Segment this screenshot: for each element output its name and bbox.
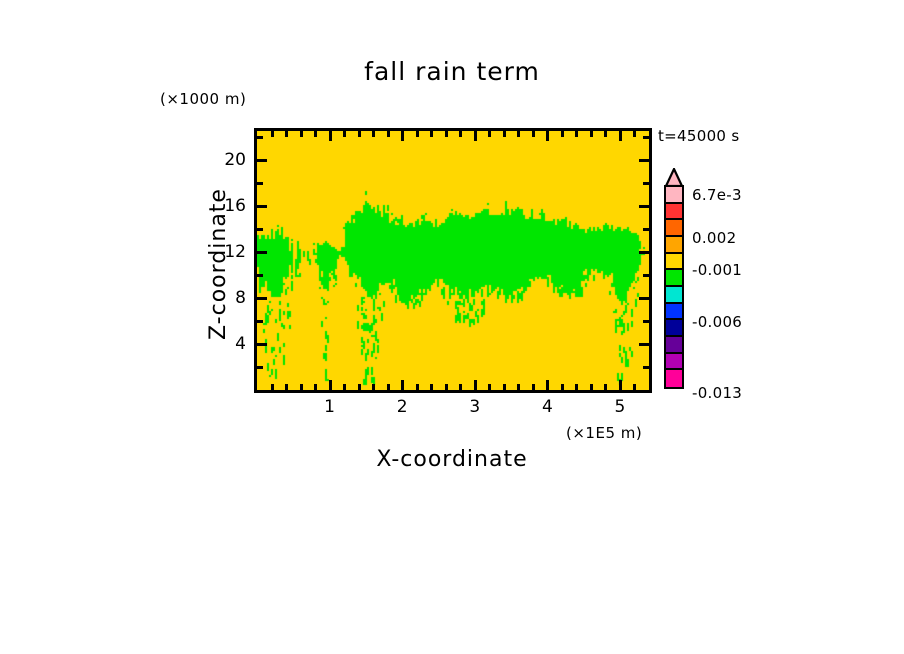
colorbar-band — [666, 270, 682, 287]
x-minor-tick-top — [300, 131, 303, 137]
x-minor-tick — [488, 384, 491, 390]
x-minor-tick-top — [633, 131, 636, 137]
x-minor-tick — [314, 384, 317, 390]
x-minor-tick-top — [372, 131, 375, 137]
colorbar-band — [666, 204, 682, 221]
colorbar-band — [666, 320, 682, 337]
y-minor-tick — [257, 136, 263, 139]
x-minor-tick — [561, 384, 564, 390]
colorbar — [664, 185, 684, 389]
y-major-tick — [257, 343, 267, 346]
x-minor-tick — [285, 384, 288, 390]
x-major-tick-top — [474, 131, 477, 141]
x-minor-tick — [459, 384, 462, 390]
colorbar-tick-label: 0.002 — [692, 229, 736, 247]
x-minor-tick-top — [445, 131, 448, 137]
y-minor-tick-right — [643, 136, 649, 139]
colorbar-tick-label: -0.001 — [692, 261, 742, 279]
x-minor-tick — [503, 384, 506, 390]
x-minor-tick-top — [285, 131, 288, 137]
y-tick-label: 16 — [212, 196, 246, 216]
x-minor-tick-top — [604, 131, 607, 137]
x-minor-tick — [300, 384, 303, 390]
y-minor-tick — [257, 320, 263, 323]
colorbar-band — [666, 354, 682, 371]
y-major-tick — [257, 159, 267, 162]
x-major-tick — [546, 380, 549, 390]
y-tick-label: 20 — [212, 150, 246, 170]
contour-field — [257, 131, 649, 390]
x-minor-tick-top — [459, 131, 462, 137]
x-minor-tick — [271, 384, 274, 390]
x-major-tick — [474, 380, 477, 390]
colorbar-tick-label: 6.7e-3 — [692, 186, 742, 204]
colorbar-band — [666, 370, 682, 387]
x-major-tick — [329, 380, 332, 390]
y-minor-tick-right — [643, 366, 649, 369]
y-minor-tick — [257, 366, 263, 369]
y-minor-tick-right — [643, 320, 649, 323]
y-major-tick-right — [639, 251, 649, 254]
colorbar-band — [666, 287, 682, 304]
x-minor-tick-top — [430, 131, 433, 137]
x-minor-tick — [430, 384, 433, 390]
y-minor-tick — [257, 274, 263, 277]
x-axis-title: X-coordinate — [0, 447, 904, 472]
x-minor-tick — [517, 384, 520, 390]
x-minor-tick — [416, 384, 419, 390]
y-minor-tick-right — [643, 274, 649, 277]
plot-area — [254, 128, 652, 393]
y-tick-label: 4 — [212, 334, 246, 354]
x-major-tick-top — [401, 131, 404, 141]
x-tick-label: 2 — [390, 397, 414, 417]
x-minor-tick — [343, 384, 346, 390]
x-minor-tick-top — [590, 131, 593, 137]
x-tick-label: 3 — [463, 397, 487, 417]
y-minor-tick-right — [643, 182, 649, 185]
y-major-tick-right — [639, 297, 649, 300]
y-major-tick — [257, 251, 267, 254]
colorbar-band — [666, 237, 682, 254]
colorbar-band — [666, 337, 682, 354]
x-tick-label: 1 — [318, 397, 342, 417]
x-minor-tick — [358, 384, 361, 390]
x-minor-tick-top — [575, 131, 578, 137]
figure-root: fall rain term (×1000 m) Z-coordinate 48… — [0, 0, 904, 654]
y-minor-tick — [257, 182, 263, 185]
colorbar-band — [666, 220, 682, 237]
x-minor-tick-top — [271, 131, 274, 137]
y-major-tick-right — [639, 205, 649, 208]
x-minor-tick — [604, 384, 607, 390]
colorbar-band — [666, 187, 682, 204]
x-minor-tick-top — [503, 131, 506, 137]
x-axis-unit-label: (×1E5 m) — [566, 424, 642, 442]
colorbar-tick-label: -0.013 — [692, 384, 742, 402]
y-axis-unit-label: (×1000 m) — [160, 90, 246, 108]
colorbar-band — [666, 304, 682, 321]
x-minor-tick-top — [488, 131, 491, 137]
y-major-tick-right — [639, 343, 649, 346]
x-tick-label: 4 — [535, 397, 559, 417]
x-minor-tick — [633, 384, 636, 390]
y-minor-tick — [257, 228, 263, 231]
x-minor-tick-top — [532, 131, 535, 137]
x-major-tick — [401, 380, 404, 390]
colorbar-tick-label: -0.006 — [692, 313, 742, 331]
y-major-tick-right — [639, 159, 649, 162]
x-minor-tick — [590, 384, 593, 390]
x-minor-tick — [532, 384, 535, 390]
page-title: fall rain term — [0, 57, 904, 86]
x-minor-tick — [445, 384, 448, 390]
y-tick-label: 8 — [212, 288, 246, 308]
time-annotation: t=45000 s — [658, 127, 739, 145]
x-minor-tick-top — [416, 131, 419, 137]
y-minor-tick-right — [643, 228, 649, 231]
x-tick-label: 5 — [608, 397, 632, 417]
x-minor-tick-top — [561, 131, 564, 137]
x-minor-tick-top — [343, 131, 346, 137]
x-minor-tick — [372, 384, 375, 390]
x-minor-tick-top — [517, 131, 520, 137]
x-major-tick-top — [546, 131, 549, 141]
x-major-tick — [619, 380, 622, 390]
x-minor-tick — [387, 384, 390, 390]
x-minor-tick-top — [314, 131, 317, 137]
x-minor-tick-top — [387, 131, 390, 137]
y-major-tick — [257, 205, 267, 208]
x-major-tick-top — [329, 131, 332, 141]
colorbar-band — [666, 254, 682, 271]
x-major-tick-top — [619, 131, 622, 141]
x-minor-tick-top — [358, 131, 361, 137]
y-tick-label: 12 — [212, 242, 246, 262]
y-major-tick — [257, 297, 267, 300]
x-minor-tick — [575, 384, 578, 390]
